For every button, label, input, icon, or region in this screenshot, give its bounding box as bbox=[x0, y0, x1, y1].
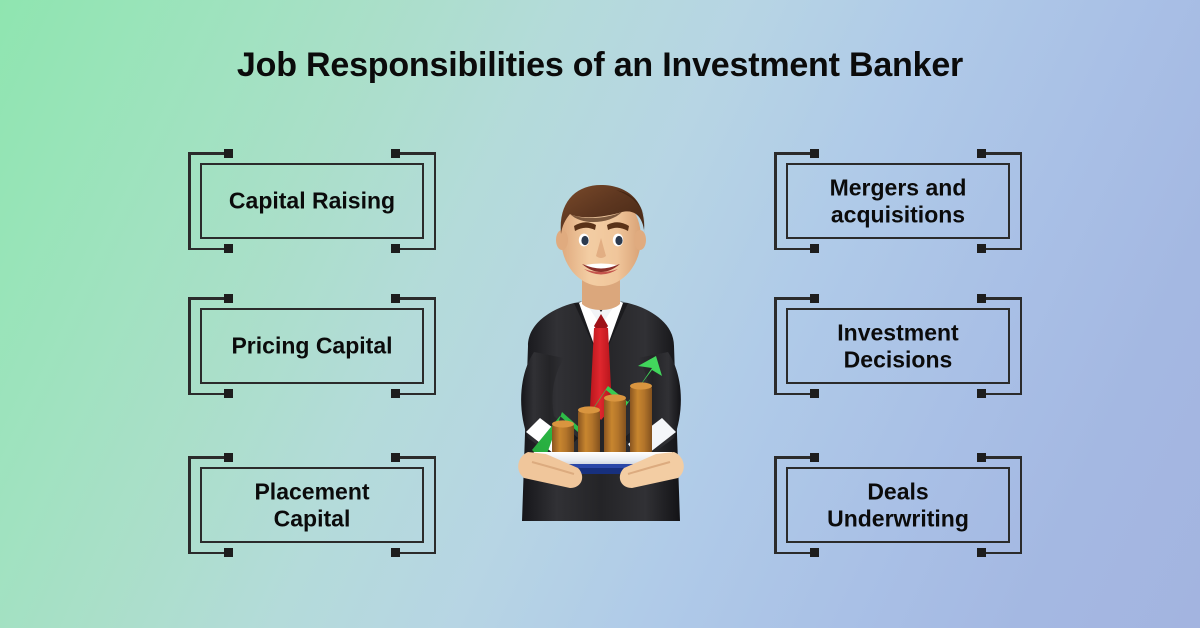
bracket-arm-bottom-right bbox=[396, 393, 436, 396]
investment-banker-illustration bbox=[466, 176, 736, 521]
coin-stack-2 bbox=[578, 406, 600, 454]
bracket-arm-bottom-left bbox=[188, 393, 228, 396]
bracket-spine-right bbox=[434, 456, 437, 554]
bracket-nub-bottom-right bbox=[391, 548, 400, 557]
bracket-nub-top-right bbox=[391, 294, 400, 303]
bracket-arm-top-right bbox=[982, 152, 1022, 155]
responsibility-label: Mergers and acquisitions bbox=[790, 174, 1006, 227]
responsibility-card-deals-underwriting: Deals Underwriting bbox=[772, 456, 1024, 554]
bracket-arm-bottom-left bbox=[774, 552, 814, 555]
responsibility-label: Placement Capital bbox=[204, 478, 420, 531]
responsibility-card-mergers-and-acquisitions: Mergers and acquisitions bbox=[772, 152, 1024, 250]
bracket-nub-top-left bbox=[224, 149, 233, 158]
bracket-arm-top-right bbox=[396, 456, 436, 459]
bracket-arm-bottom-right bbox=[982, 248, 1022, 251]
bracket-nub-bottom-left bbox=[810, 389, 819, 398]
bracket-arm-bottom-left bbox=[188, 248, 228, 251]
bracket-nub-bottom-right bbox=[977, 548, 986, 557]
responsibility-card-placement-capital: Placement Capital bbox=[186, 456, 438, 554]
bracket-arm-bottom-right bbox=[982, 552, 1022, 555]
responsibility-label: Deals Underwriting bbox=[790, 478, 1006, 531]
bracket-spine-right bbox=[1020, 297, 1023, 395]
bracket-nub-top-left bbox=[810, 149, 819, 158]
bracket-arm-bottom-left bbox=[774, 248, 814, 251]
bracket-arm-top-right bbox=[982, 456, 1022, 459]
infographic-canvas: Job Responsibilities of an Investment Ba… bbox=[0, 0, 1200, 628]
bracket-arm-top-left bbox=[774, 152, 814, 155]
bracket-nub-top-left bbox=[224, 453, 233, 462]
bracket-spine-left bbox=[188, 152, 191, 250]
coin-stack-1 bbox=[552, 420, 574, 454]
bracket-nub-top-right bbox=[977, 149, 986, 158]
bracket-spine-left bbox=[774, 297, 777, 395]
bracket-nub-bottom-left bbox=[224, 244, 233, 253]
bracket-arm-bottom-right bbox=[982, 393, 1022, 396]
bracket-spine-left bbox=[774, 152, 777, 250]
bracket-spine-left bbox=[774, 456, 777, 554]
responsibility-label: Investment Decisions bbox=[790, 319, 1006, 372]
bracket-nub-top-right bbox=[977, 294, 986, 303]
page-title: Job Responsibilities of an Investment Ba… bbox=[0, 46, 1200, 85]
bracket-nub-bottom-left bbox=[224, 548, 233, 557]
bracket-arm-bottom-right bbox=[396, 248, 436, 251]
responsibility-card-pricing-capital: Pricing Capital bbox=[186, 297, 438, 395]
bracket-nub-top-right bbox=[977, 453, 986, 462]
bracket-nub-top-right bbox=[391, 149, 400, 158]
bracket-arm-bottom-left bbox=[188, 552, 228, 555]
bracket-spine-right bbox=[434, 152, 437, 250]
bracket-nub-top-left bbox=[810, 453, 819, 462]
bracket-nub-top-left bbox=[810, 294, 819, 303]
bracket-arm-top-left bbox=[774, 297, 814, 300]
bracket-arm-top-right bbox=[396, 297, 436, 300]
bracket-spine-left bbox=[188, 456, 191, 554]
coin-stack-3 bbox=[604, 394, 626, 454]
bracket-arm-bottom-left bbox=[774, 393, 814, 396]
bracket-nub-top-right bbox=[391, 453, 400, 462]
responsibility-label: Pricing Capital bbox=[204, 333, 420, 360]
bracket-spine-left bbox=[188, 297, 191, 395]
bracket-nub-bottom-left bbox=[810, 548, 819, 557]
bracket-spine-right bbox=[1020, 456, 1023, 554]
bracket-nub-bottom-right bbox=[391, 244, 400, 253]
bracket-arm-bottom-right bbox=[396, 552, 436, 555]
bracket-spine-right bbox=[1020, 152, 1023, 250]
bracket-spine-right bbox=[434, 297, 437, 395]
bracket-arm-top-left bbox=[188, 297, 228, 300]
responsibility-label: Capital Raising bbox=[204, 188, 420, 215]
bracket-nub-bottom-left bbox=[810, 244, 819, 253]
bracket-arm-top-right bbox=[982, 297, 1022, 300]
bracket-nub-top-left bbox=[224, 294, 233, 303]
responsibility-card-capital-raising: Capital Raising bbox=[186, 152, 438, 250]
bracket-arm-top-left bbox=[774, 456, 814, 459]
bracket-nub-bottom-right bbox=[977, 244, 986, 253]
bracket-arm-top-left bbox=[188, 456, 228, 459]
head bbox=[556, 185, 646, 286]
responsibility-card-investment-decisions: Investment Decisions bbox=[772, 297, 1024, 395]
bracket-nub-bottom-left bbox=[224, 389, 233, 398]
bracket-nub-bottom-right bbox=[977, 389, 986, 398]
coin-stack-4 bbox=[630, 382, 652, 454]
bracket-nub-bottom-right bbox=[391, 389, 400, 398]
bracket-arm-top-right bbox=[396, 152, 436, 155]
bracket-arm-top-left bbox=[188, 152, 228, 155]
